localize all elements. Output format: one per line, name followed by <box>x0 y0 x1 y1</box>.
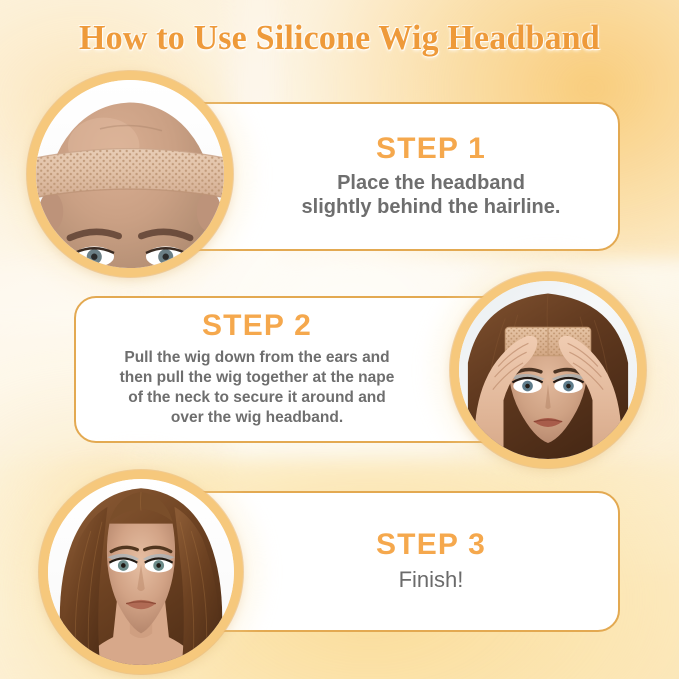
mannequin-head-with-headband-photo <box>27 71 233 277</box>
step-1-heading: STEP 1 <box>244 133 618 165</box>
step-1-line-2: slightly behind the hairline. <box>244 195 618 219</box>
infographic-root: How to Use Silicone Wig Headband STEP 1 … <box>0 0 679 679</box>
step-1-line-1: Place the headband <box>244 171 618 195</box>
finished-wig-look-photo <box>39 470 243 674</box>
step-2-line-3: of the neck to secure it around and <box>76 388 438 408</box>
step-2-line-4: over the wig headband. <box>76 408 438 428</box>
step-3-heading: STEP 3 <box>244 529 618 561</box>
step-2-line-2: then pull the wig together at the nape <box>76 368 438 388</box>
step-3-description: Finish! <box>244 567 618 594</box>
step-1-description: Place the headband slightly behind the h… <box>244 171 618 220</box>
hands-pulling-wig-over-headband-photo <box>450 272 646 468</box>
step-3-line-1: Finish! <box>244 567 618 594</box>
step-2-description: Pull the wig down from the ears and then… <box>76 348 438 429</box>
step-2-heading: STEP 2 <box>76 310 438 342</box>
step-2-line-1: Pull the wig down from the ears and <box>76 348 438 368</box>
